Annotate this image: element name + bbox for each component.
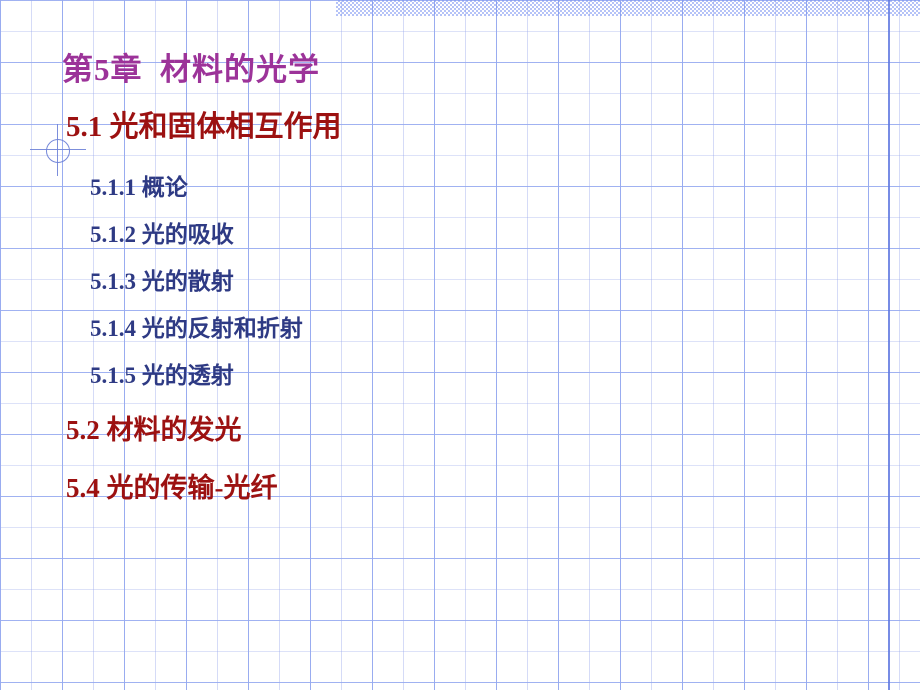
list-item: 5.1.5 光的透射 xyxy=(90,352,490,399)
section-heading-5-4: 5.4 光的传输-光纤 xyxy=(66,466,278,505)
list-item: 5.1.3 光的散射 xyxy=(90,258,490,305)
section-heading-5-1: 5.1 光和固体相互作用 xyxy=(66,103,342,145)
list-item: 5.1.2 光的吸收 xyxy=(90,211,490,258)
list-item: 5.1.1 概论 xyxy=(90,164,490,211)
list-item: 5.1.4 光的反射和折射 xyxy=(90,305,490,352)
chapter-title: 第5章 材料的光学 xyxy=(62,44,320,89)
slide-content: 第5章 材料的光学 5.1 光和固体相互作用 5.1.1 概论 5.1.2 光的… xyxy=(0,0,920,690)
slide-canvas: 第5章 材料的光学 5.1 光和固体相互作用 5.1.1 概论 5.1.2 光的… xyxy=(0,0,920,690)
section-heading-5-2: 5.2 材料的发光 xyxy=(66,408,242,447)
subsection-list: 5.1.1 概论 5.1.2 光的吸收 5.1.3 光的散射 5.1.4 光的反… xyxy=(90,164,490,399)
